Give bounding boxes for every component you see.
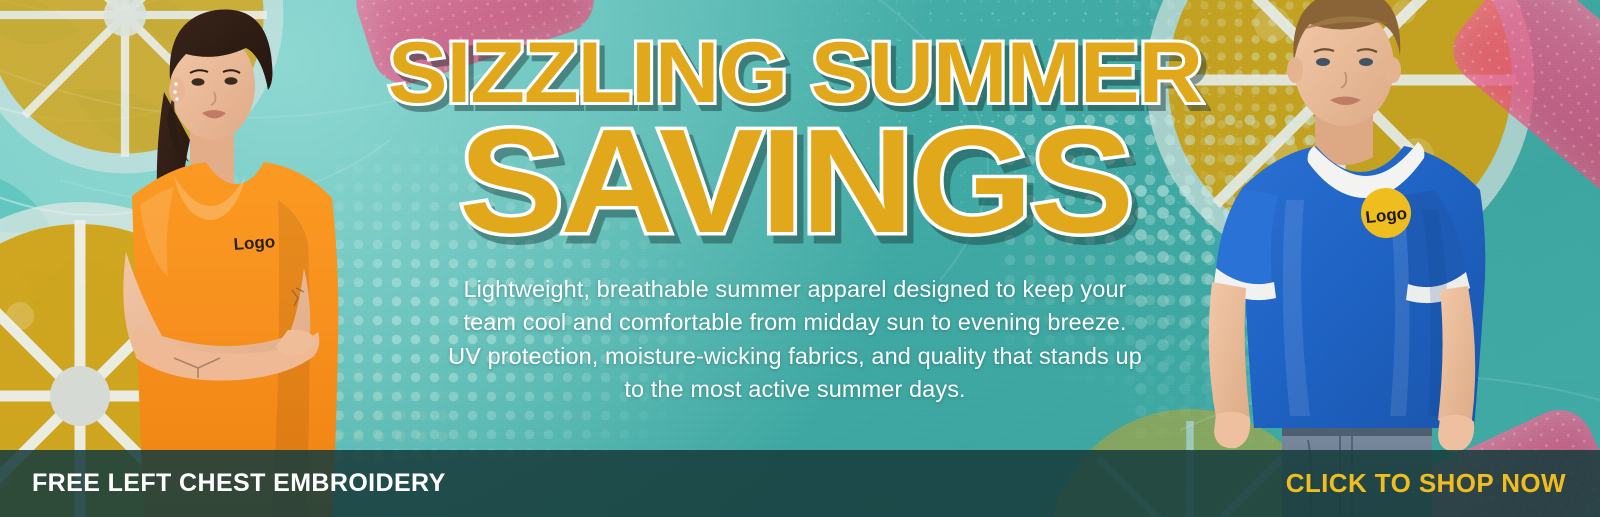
banner-subcopy: Lightweight, breathable summer apparel d… [445, 273, 1145, 406]
summer-sale-banner: Logo [0, 0, 1600, 517]
svg-text:Logo: Logo [233, 232, 276, 254]
shop-now-cta[interactable]: CLICK TO SHOP NOW [1286, 468, 1566, 499]
offer-text: FREE LEFT CHEST EMBROIDERY [32, 469, 446, 498]
banner-copy-block: SIZZLING SUMMER SAVINGS Lightweight, bre… [370, 0, 1220, 450]
bottom-bar: FREE LEFT CHEST EMBROIDERY CLICK TO SHOP… [0, 450, 1600, 517]
model-woman-orange-tank: Logo [78, 0, 358, 517]
headline-line-2: SAVINGS [345, 117, 1246, 247]
left-chest-logo-badge: Logo [1361, 188, 1411, 238]
left-chest-logo-placeholder: Logo [233, 232, 276, 254]
model-man-blue-tee: Logo [1190, 0, 1520, 517]
